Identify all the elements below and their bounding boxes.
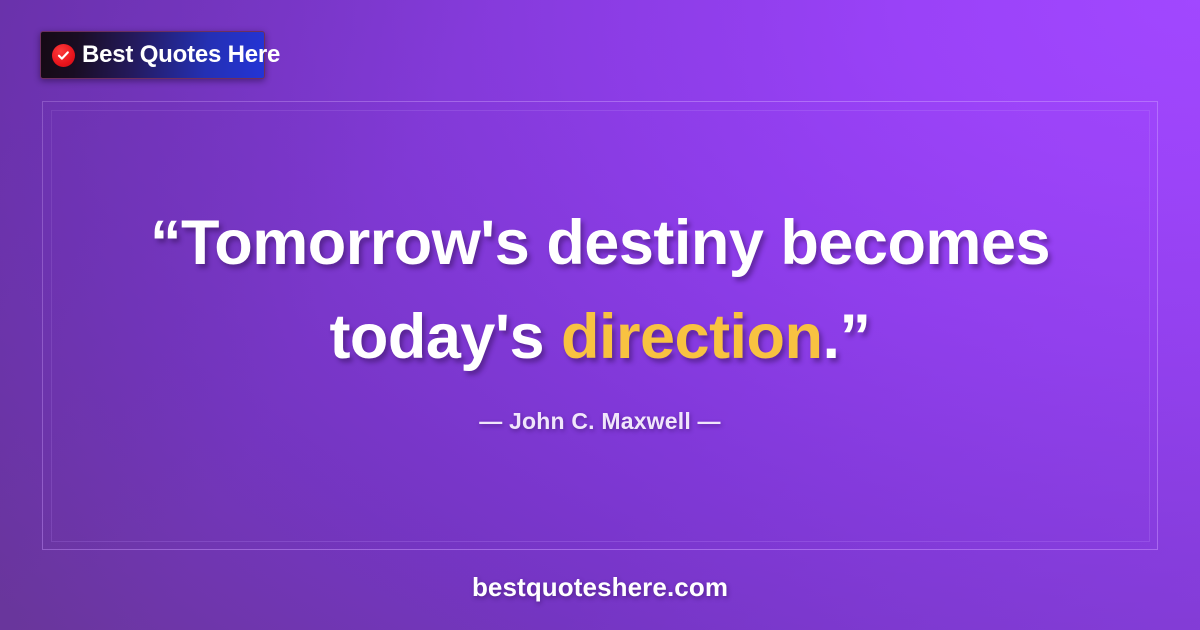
quote-line-2-prefix: today's [329, 302, 561, 372]
quote-block: “Tomorrow's destiny becomes today's dire… [0, 196, 1200, 384]
quote-line-1: “Tomorrow's destiny becomes [0, 196, 1200, 290]
brand-badge-label: Best Quotes Here [82, 43, 280, 67]
brand-badge[interactable]: Best Quotes Here [40, 31, 265, 79]
quote-attribution: — John C. Maxwell — [0, 408, 1200, 435]
footer-website: bestquoteshere.com [0, 572, 1200, 603]
check-circle-icon [52, 44, 75, 67]
quote-card: Best Quotes Here “Tomorrow's destiny bec… [0, 0, 1200, 630]
quote-line-2-suffix: .” [823, 302, 871, 372]
quote-highlight-word: direction [561, 302, 823, 372]
quote-line-2: today's direction.” [0, 290, 1200, 384]
